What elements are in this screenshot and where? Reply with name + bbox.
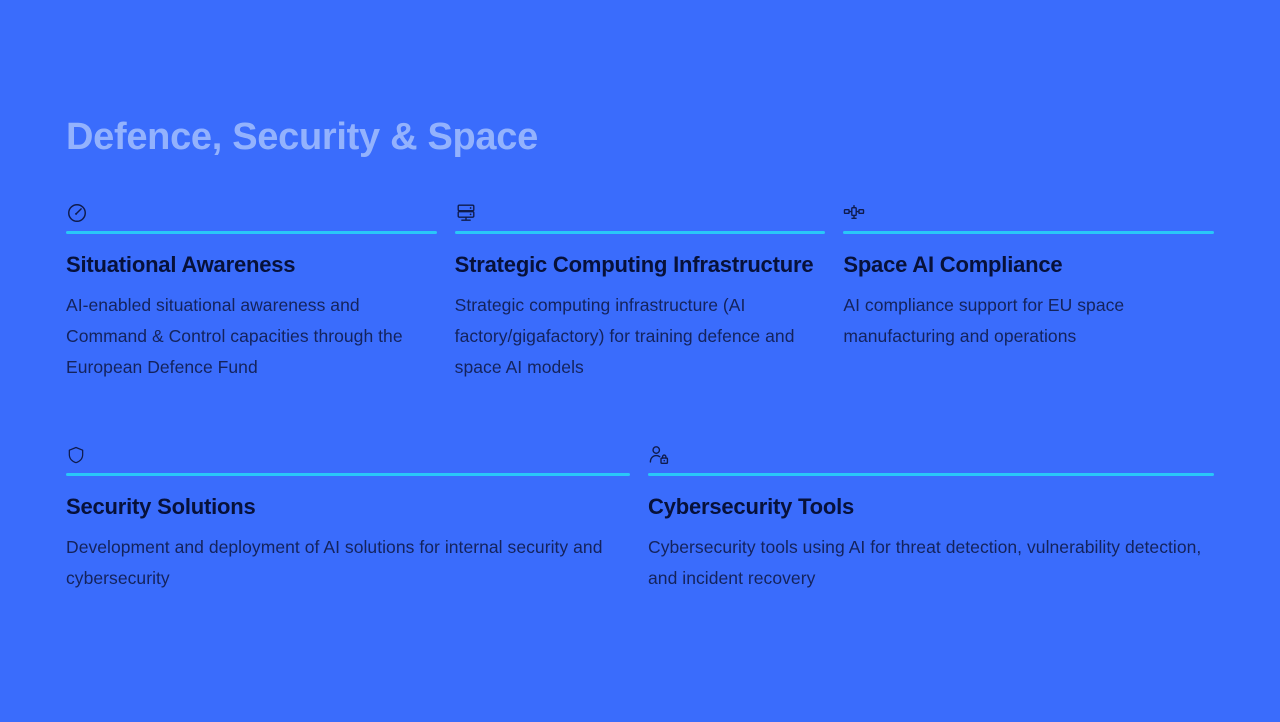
server-rack-icon	[455, 200, 826, 226]
card-divider	[843, 231, 1214, 234]
feature-card-situational-awareness[interactable]: Situational Awareness AI-enabled situati…	[66, 200, 437, 383]
satellite-icon	[843, 200, 1214, 226]
feature-card-space-ai-compliance[interactable]: Space AI Compliance AI compliance suppor…	[843, 200, 1214, 383]
feature-card-strategic-computing-infrastructure[interactable]: Strategic Computing Infrastructure Strat…	[455, 200, 826, 383]
shield-icon	[66, 442, 630, 468]
feature-row-top: Situational Awareness AI-enabled situati…	[66, 200, 1214, 383]
card-title: Space AI Compliance	[843, 250, 1214, 280]
user-lock-icon	[648, 442, 1214, 468]
feature-card-cybersecurity-tools[interactable]: Cybersecurity Tools Cybersecurity tools …	[648, 442, 1214, 594]
slide-canvas: Defence, Security & Space Situational Aw…	[0, 0, 1280, 722]
feature-row-bottom: Security Solutions Development and deplo…	[66, 442, 1214, 594]
card-divider	[66, 231, 437, 234]
card-description: Strategic computing infrastructure (AI f…	[455, 290, 826, 383]
card-description: AI compliance support for EU space manuf…	[843, 290, 1214, 352]
card-title: Strategic Computing Infrastructure	[455, 250, 826, 280]
card-description: AI-enabled situational awareness and Com…	[66, 290, 437, 383]
card-title: Cybersecurity Tools	[648, 492, 1214, 522]
card-title: Security Solutions	[66, 492, 630, 522]
card-description: Development and deployment of AI solutio…	[66, 532, 630, 594]
gauge-icon	[66, 200, 437, 226]
card-divider	[455, 231, 826, 234]
page-title: Defence, Security & Space	[66, 115, 538, 161]
card-description: Cybersecurity tools using AI for threat …	[648, 532, 1214, 594]
feature-card-security-solutions[interactable]: Security Solutions Development and deplo…	[66, 442, 630, 594]
card-divider	[66, 473, 630, 476]
card-divider	[648, 473, 1214, 476]
card-title: Situational Awareness	[66, 250, 437, 280]
